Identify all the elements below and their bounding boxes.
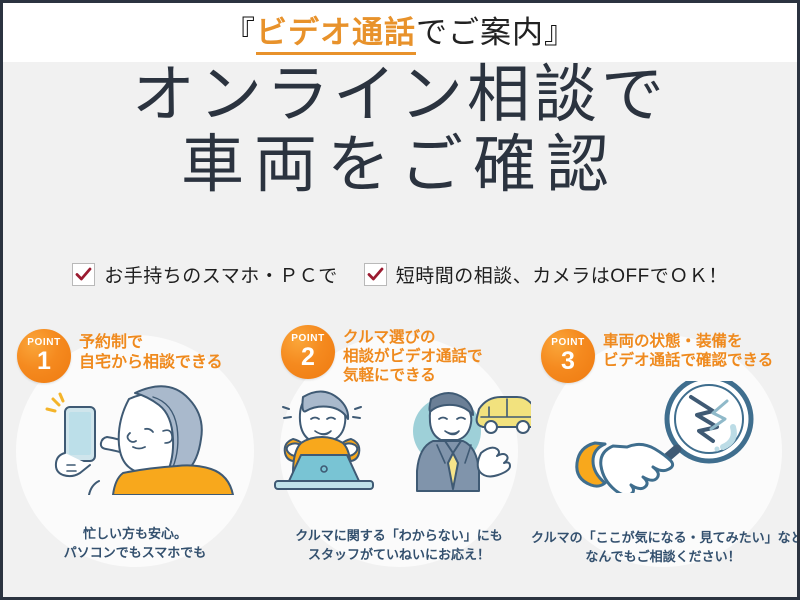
point-title-line: 気軽にできる [343, 367, 483, 386]
point-title-line: 相談がビデオ通話で [343, 348, 483, 367]
point-card-1: POINT 1 予約制で 自宅から相談できる [3, 321, 267, 571]
feature-check-row: お手持ちのスマホ・ＰＣで 短時間の相談、カメラはOFFでＯＫ！ [3, 261, 797, 288]
kicker-band: 『ビデオ通話でご案内』 [3, 3, 797, 62]
headline-line-2: 車両をご確認 [3, 135, 797, 197]
point-caption-line: パソコンでもスマホでも [3, 544, 267, 563]
point-caption-line: クルマの「ここが気になる・見てみたい」など [531, 529, 795, 548]
check-item-1: お手持ちのスマホ・ＰＣで [72, 261, 337, 288]
point-title-line: ビデオ通話で確認できる [603, 352, 773, 371]
kicker-close-bracket: 』 [544, 15, 576, 50]
point-title-3: 車両の状態・装備を ビデオ通話で確認できる [603, 329, 773, 371]
kicker-highlight: ビデオ通話 [256, 15, 416, 55]
point-caption-1: 忙しい方も安心。 パソコンでもスマホでも [3, 525, 267, 563]
promo-banner: 『ビデオ通話でご案内』 オンライン相談で 車両をご確認 お手持ちのスマホ・ＰＣで… [0, 0, 800, 600]
badge-number: 2 [301, 345, 315, 370]
point-badge-2: POINT 2 [281, 325, 335, 379]
checkmark-icon [72, 263, 95, 286]
point-card-2: POINT 2 クルマ選びの 相談がビデオ通話で 気軽にできる [267, 321, 531, 571]
point-title-line: 自宅から相談できる [79, 353, 223, 373]
woman-laptop-and-staff-with-car-illustration [267, 387, 531, 495]
point-title-line: 車両の状態・装備を [603, 333, 773, 352]
points-section: POINT 1 予約制で 自宅から相談できる [3, 321, 797, 571]
check-label-2: 短時間の相談、カメラはOFFでＯＫ！ [396, 261, 728, 288]
point-caption-3: クルマの「ここが気になる・見てみたい」など なんでもご相談ください！ [531, 529, 795, 567]
point-title-line: 予約制で [79, 333, 223, 353]
woman-with-smartphone-illustration [3, 377, 267, 495]
kicker-text: 『ビデオ通話でご案内』 [224, 17, 576, 48]
point-header-1: POINT 1 予約制で 自宅から相談できる [17, 329, 223, 383]
point-caption-2: クルマに関する「わからない」にも スタッフがていねいにお応え！ [267, 527, 531, 565]
page-title: オンライン相談で 車両をご確認 [3, 65, 797, 196]
point-header-3: POINT 3 車両の状態・装備を ビデオ通話で確認できる [541, 329, 773, 383]
hand-holding-magnifier-illustration [531, 381, 795, 493]
point-title-line: クルマ選びの [343, 329, 483, 348]
point-card-3: POINT 3 車両の状態・装備を ビデオ通話で確認できる [531, 321, 795, 571]
point-badge-1: POINT 1 [17, 329, 71, 383]
badge-number: 1 [37, 349, 51, 374]
checkmark-icon [364, 263, 387, 286]
point-title-2: クルマ選びの 相談がビデオ通話で 気軽にできる [343, 325, 483, 386]
point-title-1: 予約制で 自宅から相談できる [79, 329, 223, 372]
point-caption-line: スタッフがていねいにお応え！ [267, 546, 531, 565]
headline-line-1: オンライン相談で [3, 65, 797, 127]
point-caption-line: 忙しい方も安心。 [3, 525, 267, 544]
point-caption-line: なんでもご相談ください！ [531, 548, 795, 567]
badge-number: 3 [561, 349, 575, 374]
kicker-open-bracket: 『 [224, 15, 256, 50]
point-badge-3: POINT 3 [541, 329, 595, 383]
check-label-1: お手持ちのスマホ・ＰＣで [104, 261, 337, 288]
check-item-2: 短時間の相談、カメラはOFFでＯＫ！ [364, 261, 728, 288]
point-header-2: POINT 2 クルマ選びの 相談がビデオ通話で 気軽にできる [281, 325, 483, 386]
point-caption-line: クルマに関する「わからない」にも [267, 527, 531, 546]
kicker-tail: でご案内 [416, 15, 544, 50]
